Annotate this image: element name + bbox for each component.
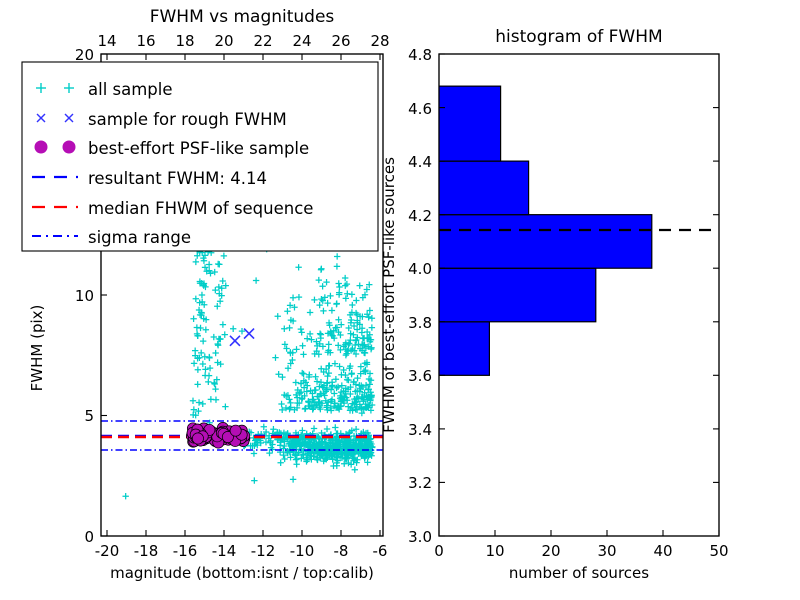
- right-xtick-4: 40: [653, 542, 672, 560]
- histogram-bar: [439, 86, 501, 161]
- right-xtick-0: 0: [434, 542, 444, 560]
- scatter-point-circle: [192, 433, 203, 444]
- left-xtick-top-1: 16: [136, 32, 155, 50]
- legend-label-rough-fwhm: sample for rough FWHM: [88, 110, 287, 129]
- left-xtick-bottom-1: -18: [134, 542, 159, 560]
- legend-label-all-sample: all sample: [88, 80, 173, 99]
- left-xtick-top-4: 22: [253, 32, 272, 50]
- left-xtick-bottom-2: -16: [173, 542, 198, 560]
- left-ytick-0: 0: [84, 528, 94, 546]
- figure-canvas: FWHM vs magnitudes -20 -18 -16 -14 -12 -…: [0, 0, 800, 600]
- right-ytick-2: 3.4: [408, 421, 432, 439]
- right-ytick-4: 3.8: [408, 314, 432, 332]
- right-xtick-2: 20: [541, 542, 560, 560]
- right-ytick-9: 4.8: [408, 46, 432, 64]
- legend-label-median-fwhm: median FHWM of sequence: [88, 199, 313, 218]
- left-xtick-bottom-5: -10: [290, 542, 315, 560]
- left-xtick-top-5: 24: [292, 32, 311, 50]
- histogram-bar: [439, 215, 652, 269]
- left-xtick-bottom-7: -6: [373, 542, 388, 560]
- left-ytick-2: 10: [75, 287, 94, 305]
- right-ytick-8: 4.6: [408, 100, 432, 118]
- histogram-bar: [439, 322, 489, 376]
- histogram-bar: [439, 161, 529, 215]
- left-xtick-top-2: 18: [175, 32, 194, 50]
- series-psf-like-sample: [186, 422, 250, 448]
- left-x-axis-label: magnitude (bottom:isnt / top:calib): [110, 564, 374, 582]
- left-xtick-bottom-0: -20: [95, 542, 120, 560]
- left-xtick-top-7: 28: [370, 32, 389, 50]
- left-xtick-top-3: 20: [214, 32, 233, 50]
- right-ytick-0: 3.0: [408, 528, 432, 546]
- right-xtick-1: 10: [485, 542, 504, 560]
- right-xtick-5: 50: [709, 542, 728, 560]
- legend-label-resultant-fwhm: resultant FWHM: 4.14: [88, 169, 267, 188]
- left-xtick-top-0: 14: [97, 32, 116, 50]
- matplotlib-figure: FWHM vs magnitudes -20 -18 -16 -14 -12 -…: [0, 0, 800, 600]
- right-ytick-5: 4.0: [408, 260, 432, 278]
- legend: all sample sample for rough FWHM best-ef…: [22, 62, 378, 251]
- left-ytick-1: 5: [84, 407, 94, 425]
- right-ytick-6: 4.2: [408, 207, 432, 225]
- left-panel-title: FWHM vs magnitudes: [150, 7, 335, 27]
- left-ytick-3: 20: [75, 46, 94, 64]
- left-xtick-top-6: 26: [331, 32, 350, 50]
- left-xtick-bottom-4: -12: [251, 542, 276, 560]
- left-xtick-bottom-6: -8: [334, 542, 349, 560]
- legend-label-sigma-range: sigma range: [88, 228, 191, 247]
- right-ytick-1: 3.2: [408, 474, 432, 492]
- right-xtick-3: 30: [597, 542, 616, 560]
- histogram-bar: [439, 268, 596, 322]
- scatter-point-circle: [230, 425, 241, 436]
- right-panel-title: histogram of FWHM: [495, 27, 662, 47]
- right-ytick-7: 4.4: [408, 153, 432, 171]
- right-y-axis-label: FWHM of best-effort PSF-like sources: [380, 157, 398, 433]
- left-xtick-bottom-3: -14: [212, 542, 237, 560]
- legend-label-psf-like: best-effort PSF-like sample: [88, 139, 309, 158]
- right-x-axis-label: number of sources: [509, 564, 649, 582]
- left-y-axis-label: FWHM (pix): [28, 305, 46, 392]
- right-ytick-3: 3.6: [408, 367, 432, 385]
